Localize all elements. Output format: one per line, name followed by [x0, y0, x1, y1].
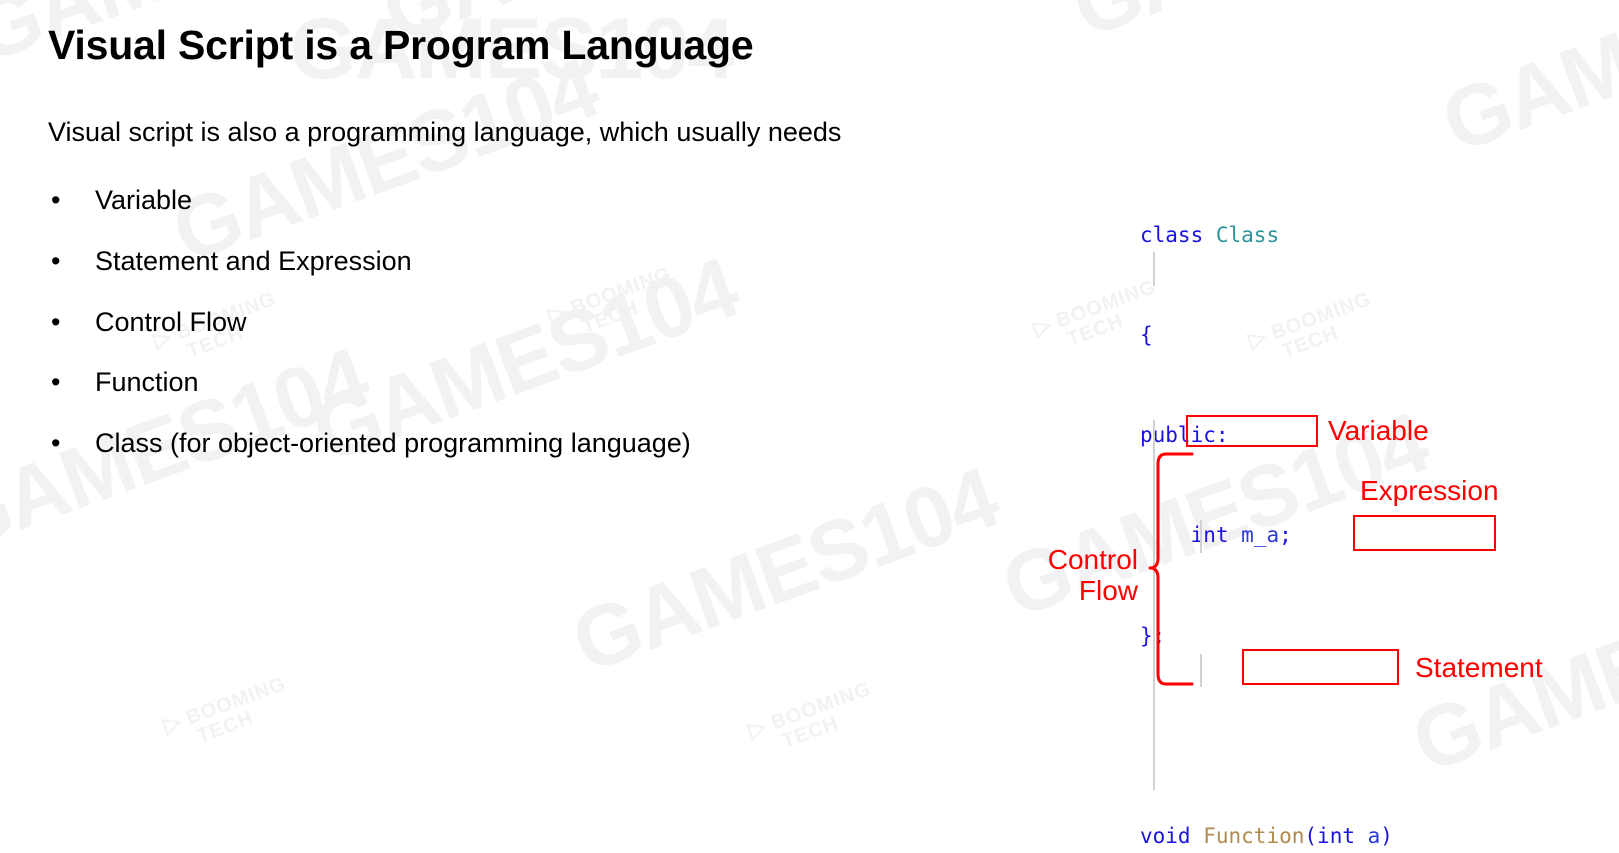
annotation-expression-label: Expression [1360, 475, 1499, 506]
code-illustration: class Class { public: int m_a; }; void F… [1040, 152, 1600, 812]
bullet-point-icon: • [51, 427, 60, 461]
list-item: • Class (for object-oriented programming… [48, 427, 1048, 461]
token-brace: { [1140, 323, 1153, 347]
annotation-statement-label: Statement [1415, 652, 1543, 683]
list-item-label: Function [95, 367, 199, 397]
list-item-label: Control Flow [95, 307, 247, 337]
list-item-label: Variable [95, 185, 192, 215]
indent-guide [1153, 252, 1155, 286]
bullet-point-icon: • [51, 184, 60, 218]
code-line: { [1140, 319, 1469, 352]
list-item-label: Statement and Expression [95, 246, 412, 276]
slide-canvas: GAMES104 GAMES104 GAMES104 GAMES104 GAME… [0, 0, 1619, 853]
token-type: Class [1216, 223, 1279, 247]
bullet-point-icon: • [51, 245, 60, 279]
list-item: • Statement and Expression [48, 245, 1048, 279]
token-keyword: void [1140, 824, 1191, 848]
indent-guide [1153, 420, 1155, 790]
token-keyword: public [1140, 423, 1216, 447]
page-title: Visual Script is a Program Language [48, 22, 1048, 69]
token-function-name: Function [1203, 824, 1304, 848]
booming-logo-icon: ▷ [160, 709, 185, 737]
token-keyword: class [1140, 223, 1203, 247]
booming-line1: BOOMING [768, 678, 874, 735]
bullet-list: • Variable • Statement and Expression • … [48, 184, 1048, 461]
annotation-control-flow-label: Control Flow [1030, 544, 1138, 607]
list-item: • Variable [48, 184, 1048, 218]
booming-line2: TECH [194, 707, 256, 748]
annotation-variable-label: Variable [1328, 415, 1429, 446]
indent-guide [1200, 654, 1202, 687]
watermark-games104: GAMES104 [1430, 0, 1619, 173]
token-keyword: int [1317, 824, 1355, 848]
content-column: Visual Script is a Program Language Visu… [48, 22, 1048, 488]
token-keyword: int [1191, 523, 1229, 547]
code-line: void Function(int a) [1140, 820, 1469, 853]
token-identifier: m_a [1241, 523, 1279, 547]
booming-line1: BOOMING [183, 673, 289, 730]
list-item: • Function [48, 366, 1048, 400]
bullet-point-icon: • [51, 366, 60, 400]
code-line: int m_a; [1140, 519, 1469, 552]
token-identifier: a [1368, 824, 1381, 848]
control-flow-line2: Flow [1079, 575, 1138, 606]
code-line-blank [1140, 720, 1469, 753]
code-line: }; [1140, 620, 1469, 653]
intro-paragraph: Visual script is also a programming lang… [48, 115, 1048, 150]
code-line: class Class [1140, 219, 1469, 252]
control-flow-line1: Control [1048, 544, 1138, 575]
list-item: • Control Flow [48, 306, 1048, 340]
booming-line2: TECH [779, 712, 841, 753]
watermark-booming-tech: ▷BOOMING TECH [160, 671, 296, 757]
indent-guide [1200, 520, 1202, 553]
booming-logo-icon: ▷ [745, 714, 770, 742]
watermark-games104: GAMES104 [1060, 0, 1510, 58]
list-item-label: Class (for object-oriented programming l… [95, 428, 691, 458]
watermark-booming-tech: ▷BOOMING TECH [745, 676, 881, 762]
bullet-point-icon: • [51, 306, 60, 340]
